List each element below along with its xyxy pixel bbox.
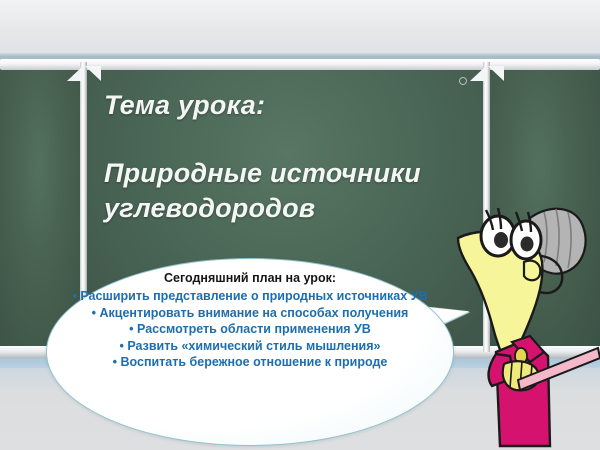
lesson-plan-heading: Сегодняшний план на урок:	[62, 270, 438, 287]
blackboard-bracket-left	[67, 66, 101, 82]
lesson-plan-item: • Акцентировать внимание на способах пол…	[62, 305, 438, 322]
teacher-cartoon-figure	[452, 196, 600, 450]
presentation-slide: Тема урока: Природные источники углеводо…	[0, 0, 600, 450]
lesson-plan-item: • Расширить представление о природных ис…	[62, 288, 438, 305]
lesson-plan-content: Сегодняшний план на урок: • Расширить пр…	[62, 270, 438, 371]
chalk-dot-icon	[459, 77, 467, 85]
lesson-plan-item: • Воспитать бережное отношение к природе	[62, 354, 438, 371]
blackboard-bracket-right	[470, 66, 504, 82]
lesson-title-topic: Природные источники углеводородов	[104, 156, 494, 226]
lesson-title: Тема урока: Природные источники углеводо…	[104, 88, 494, 226]
lesson-plan-item: • Развить «химический стиль мышления»	[62, 338, 438, 355]
lesson-plan-item: • Рассмотреть области применения УВ	[62, 321, 438, 338]
lesson-title-label: Тема урока:	[104, 88, 494, 122]
wall-background	[0, 0, 600, 58]
